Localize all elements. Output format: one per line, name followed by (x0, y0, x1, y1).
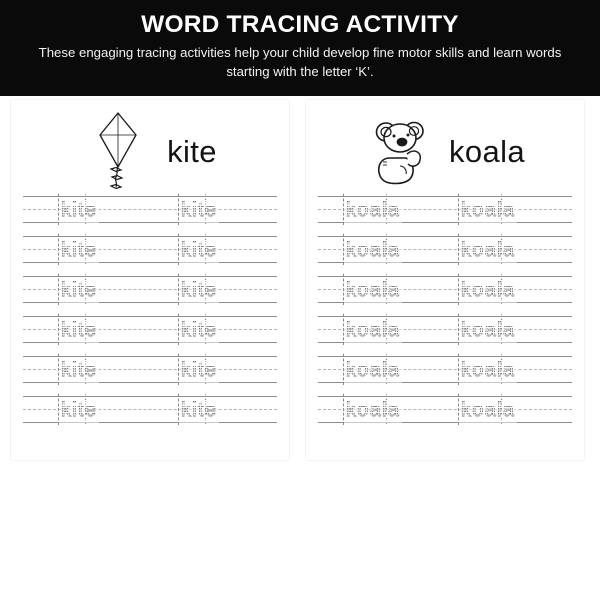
stroke-start-guide (58, 394, 59, 425)
trace-row[interactable]: koala koala (318, 396, 572, 423)
trace-row[interactable]: kite kite (23, 356, 277, 383)
trace-slot[interactable]: kite (61, 316, 97, 343)
trace-slot[interactable]: kite (181, 236, 217, 263)
trace-word: kite (181, 320, 217, 340)
trace-slot[interactable]: koala (346, 316, 400, 343)
trace-slot[interactable]: koala (461, 316, 515, 343)
trace-slot[interactable]: kite (181, 276, 217, 303)
trace-word: koala (346, 200, 400, 220)
trace-word: kite (181, 200, 217, 220)
stroke-start-guide (343, 394, 344, 425)
trace-word: koala (461, 240, 515, 260)
trace-word: kite (181, 280, 217, 300)
stroke-start-guide (458, 394, 459, 425)
stroke-start-guide (178, 274, 179, 305)
page-header: WORD TRACING ACTIVITY These engaging tra… (0, 0, 600, 96)
trace-word: koala (461, 200, 515, 220)
page-subtitle: These engaging tracing activities help y… (20, 44, 580, 80)
trace-row[interactable]: kite kite (23, 316, 277, 343)
trace-slot[interactable]: koala (346, 396, 400, 423)
stroke-start-guide (343, 314, 344, 345)
trace-slot[interactable]: koala (461, 276, 515, 303)
trace-slot[interactable]: kite (181, 196, 217, 223)
trace-row[interactable]: kite kite (23, 236, 277, 263)
trace-word: kite (181, 400, 217, 420)
trace-slot[interactable]: koala (461, 236, 515, 263)
trace-word: koala (346, 360, 400, 380)
stroke-start-guide (58, 194, 59, 225)
stroke-start-guide (343, 274, 344, 305)
stroke-start-guide (458, 354, 459, 385)
stroke-start-guide (458, 234, 459, 265)
stroke-start-guide (58, 354, 59, 385)
worksheet-card-kite: kite kite kite (10, 99, 290, 461)
trace-slot[interactable]: kite (61, 276, 97, 303)
trace-word: koala (346, 320, 400, 340)
worksheet-word-kite: kite (167, 136, 217, 167)
stroke-start-guide (58, 234, 59, 265)
worksheet-area: kite kite kite (0, 96, 600, 600)
trace-slot[interactable]: kite (61, 396, 97, 423)
worksheet-word-koala: koala (449, 136, 525, 167)
trace-slot[interactable]: kite (61, 236, 97, 263)
trace-word: kite (61, 240, 97, 260)
trace-slot[interactable]: koala (346, 276, 400, 303)
trace-word: koala (461, 320, 515, 340)
stroke-start-guide (458, 194, 459, 225)
trace-word: koala (461, 400, 515, 420)
kite-icon (83, 109, 157, 193)
trace-word: koala (461, 360, 515, 380)
trace-word: koala (346, 280, 400, 300)
stroke-start-guide (343, 234, 344, 265)
trace-word: koala (461, 280, 515, 300)
worksheet-heading-kite: kite (11, 100, 289, 196)
stroke-start-guide (58, 274, 59, 305)
stroke-start-guide (343, 354, 344, 385)
trace-word: koala (346, 400, 400, 420)
trace-row[interactable]: koala koala (318, 356, 572, 383)
trace-word: kite (61, 200, 97, 220)
stroke-start-guide (458, 314, 459, 345)
trace-slot[interactable]: koala (346, 196, 400, 223)
stroke-start-guide (178, 354, 179, 385)
trace-word: kite (61, 360, 97, 380)
trace-slot[interactable]: kite (61, 356, 97, 383)
trace-word: kite (61, 280, 97, 300)
stroke-start-guide (178, 314, 179, 345)
trace-row[interactable]: koala koala (318, 196, 572, 223)
stroke-start-guide (178, 234, 179, 265)
trace-word: kite (181, 360, 217, 380)
trace-word: koala (346, 240, 400, 260)
trace-slot[interactable]: kite (181, 316, 217, 343)
trace-slot[interactable]: koala (461, 396, 515, 423)
tracing-rows-koala: koala koala koala (306, 196, 584, 423)
trace-slot[interactable]: koala (346, 236, 400, 263)
trace-row[interactable]: koala koala (318, 236, 572, 263)
trace-row[interactable]: kite kite (23, 276, 277, 303)
trace-slot[interactable]: kite (181, 396, 217, 423)
page-title: WORD TRACING ACTIVITY (18, 11, 582, 38)
koala-icon (365, 109, 439, 193)
trace-row[interactable]: kite kite (23, 396, 277, 423)
trace-slot[interactable]: koala (461, 356, 515, 383)
trace-word: kite (61, 320, 97, 340)
trace-row[interactable]: kite kite (23, 196, 277, 223)
stroke-start-guide (178, 394, 179, 425)
trace-slot[interactable]: koala (461, 196, 515, 223)
stroke-start-guide (458, 274, 459, 305)
trace-row[interactable]: koala koala (318, 316, 572, 343)
stroke-start-guide (343, 194, 344, 225)
stroke-start-guide (58, 314, 59, 345)
trace-word: kite (61, 400, 97, 420)
trace-word: kite (181, 240, 217, 260)
tracing-rows-kite: kite kite kite (11, 196, 289, 423)
trace-slot[interactable]: kite (61, 196, 97, 223)
worksheet-heading-koala: koala (306, 100, 584, 196)
stroke-start-guide (178, 194, 179, 225)
trace-slot[interactable]: kite (181, 356, 217, 383)
trace-slot[interactable]: koala (346, 356, 400, 383)
worksheet-card-koala: koala koala koala (305, 99, 585, 461)
trace-row[interactable]: koala koala (318, 276, 572, 303)
